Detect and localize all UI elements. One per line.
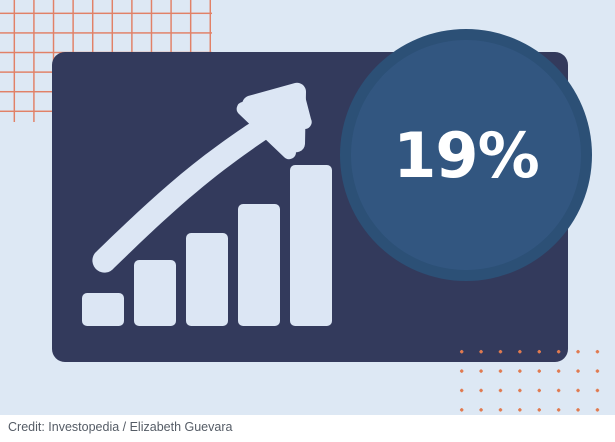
credit-bar: Credit: Investopedia / Elizabeth Guevara: [0, 415, 615, 442]
bar-3: [186, 233, 228, 326]
percent-badge: 19%: [340, 29, 592, 281]
bar-2: [134, 260, 176, 326]
percent-value: 19%: [393, 125, 538, 187]
credit-text: Credit: Investopedia / Elizabeth Guevara: [8, 420, 232, 434]
illustration-figure: 19% Credit: Investopedia / Elizabeth Gue…: [0, 0, 615, 442]
bar-4: [238, 204, 280, 326]
illustration-canvas: 19%: [0, 0, 615, 415]
bar-5: [290, 165, 332, 326]
bar-1: [82, 293, 124, 326]
